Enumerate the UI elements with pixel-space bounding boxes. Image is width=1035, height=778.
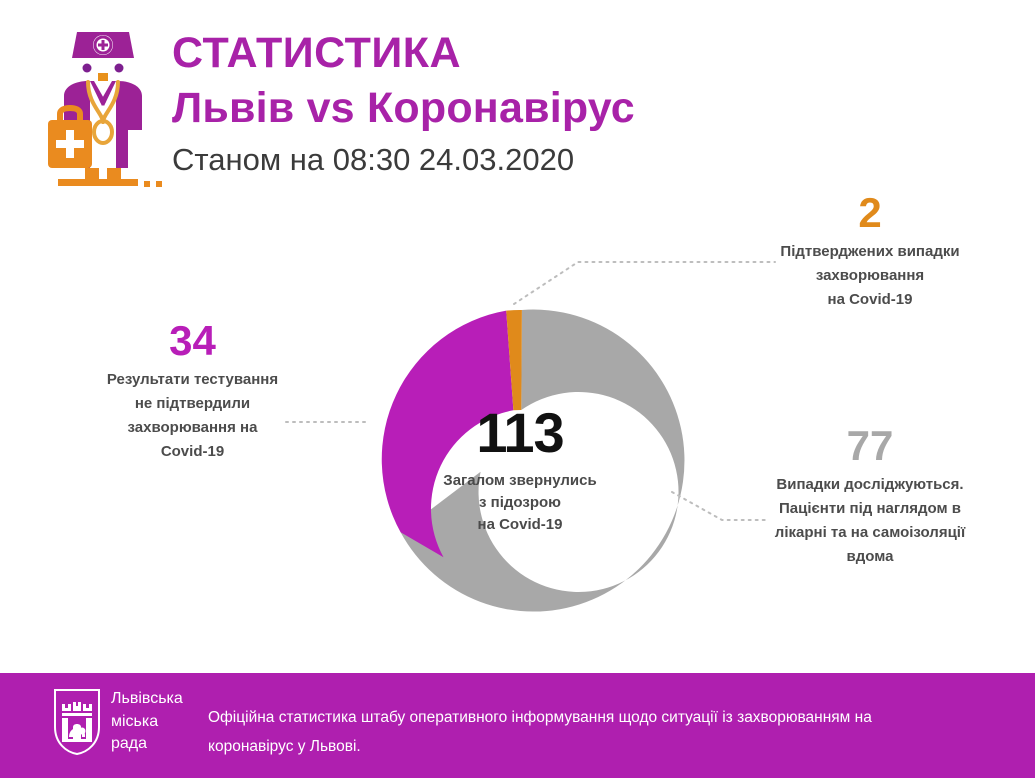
callout-negative-value: 34 bbox=[60, 320, 325, 362]
total-caption: Загалом звернулись з підозрою на Covid-1… bbox=[425, 470, 615, 535]
page-subtitle: Львів vs Коронавірус bbox=[172, 85, 772, 131]
footer-note: Офіційна статистика штабу оперативного і… bbox=[208, 704, 928, 761]
lviv-city-council-coat-of-arms-icon bbox=[52, 687, 102, 757]
callout-investigating-value: 77 bbox=[745, 425, 995, 467]
infographic-page: СТАТИСТИКА Львів vs Коронавірус Станом н… bbox=[0, 0, 1035, 778]
as-of-date: Станом на 08:30 24.03.2020 bbox=[172, 143, 772, 177]
callout-investigating: 77 Випадки досліджуються. Пацієнти під н… bbox=[745, 425, 995, 569]
footer-brand: Львівська міська рада bbox=[52, 687, 183, 757]
total-value: 113 bbox=[425, 405, 615, 461]
callout-confirmed: 2 Підтверджених випадки захворювання на … bbox=[745, 192, 995, 312]
donut-center-label: 113 Загалом звернулись з підозрою на Cov… bbox=[425, 405, 615, 535]
page-title: СТАТИСТИКА bbox=[172, 30, 772, 76]
callout-negative: 34 Результати тестування не підтвердили … bbox=[60, 320, 325, 464]
chart-area: 113 Загалом звернулись з підозрою на Cov… bbox=[0, 200, 1035, 670]
callout-investigating-text: Випадки досліджуються. Пацієнти під нагл… bbox=[745, 473, 995, 569]
footer-logo-text: Львівська міська рада bbox=[111, 688, 183, 756]
footer: Львівська міська рада Офіційна статистик… bbox=[0, 673, 1035, 778]
header-text-block: СТАТИСТИКА Львів vs Коронавірус Станом н… bbox=[172, 30, 772, 177]
leader-line-confirmed bbox=[514, 262, 775, 304]
doctor-illustration-icon bbox=[28, 18, 178, 193]
callout-negative-text: Результати тестування не підтвердили зах… bbox=[60, 368, 325, 464]
callout-confirmed-value: 2 bbox=[745, 192, 995, 234]
callout-confirmed-text: Підтверджених випадки захворювання на Co… bbox=[745, 240, 995, 312]
header: СТАТИСТИКА Львів vs Коронавірус Станом н… bbox=[0, 0, 1035, 210]
